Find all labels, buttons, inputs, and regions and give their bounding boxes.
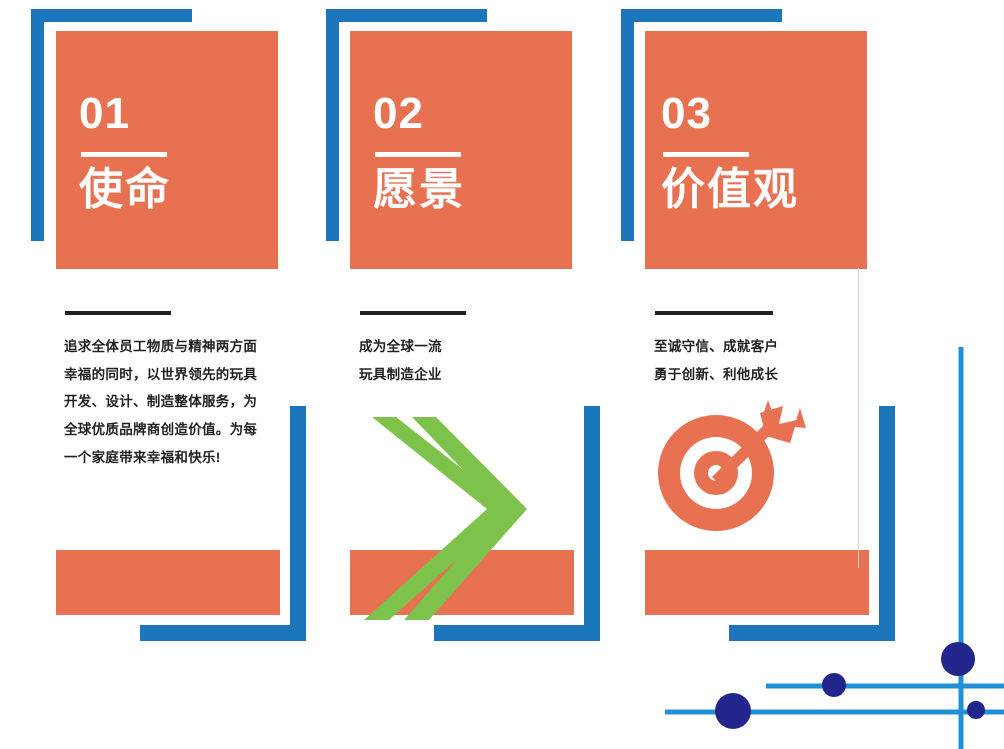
slide-edge-hairline xyxy=(858,268,859,568)
column-3-body-rule xyxy=(655,311,773,315)
target-arrow-icon xyxy=(658,400,806,531)
column-2-top-bracket-horizontal xyxy=(326,9,487,22)
decoration-circle-small-right xyxy=(967,701,985,719)
column-2-bottom-bracket-vertical xyxy=(584,406,600,625)
column-3-number: 03 xyxy=(661,92,799,136)
column-2-bottom-bracket-horizontal xyxy=(434,625,600,641)
column-3-top-bracket-horizontal xyxy=(621,9,782,22)
column-1-bottom-bracket-vertical xyxy=(290,406,306,625)
column-1-bottom-bracket-horizontal xyxy=(140,625,306,641)
decoration-circles xyxy=(715,642,985,729)
column-3-bottom-bracket-vertical xyxy=(879,406,895,625)
decoration-circle-medium-middle xyxy=(822,673,846,697)
decoration-line-horizontal-upper xyxy=(766,684,1004,689)
decoration-line-vertical xyxy=(959,347,964,749)
column-3-body-text: 至诚守信、成就客户 勇于创新、利他成长 xyxy=(654,333,884,388)
column-2-title-block: 02 愿景 xyxy=(373,92,465,213)
decoration-lines xyxy=(665,347,1004,749)
column-1-body-rule xyxy=(65,311,171,315)
column-1-top-bracket-vertical xyxy=(31,9,44,241)
column-3-bottom-bar xyxy=(645,550,869,615)
column-3-top-bracket-vertical xyxy=(621,9,634,241)
decoration-line-horizontal-lower xyxy=(665,710,1004,715)
column-2-number: 02 xyxy=(373,92,465,136)
column-1-number: 01 xyxy=(79,92,171,136)
column-3-title-block: 03 价值观 xyxy=(661,92,799,213)
slide-canvas: 01 使命 追求全体员工物质与精神两方面幸福的同时，以世界领先的玩具开发、设计、… xyxy=(0,0,1004,749)
column-1-body-text: 追求全体员工物质与精神两方面幸福的同时，以世界领先的玩具开发、设计、制造整体服务… xyxy=(64,333,261,471)
column-2-bottom-bar xyxy=(350,550,574,615)
decoration-circle-large-left xyxy=(715,693,751,729)
column-1-bottom-bar xyxy=(56,550,280,615)
column-2-top-bracket-vertical xyxy=(326,9,339,241)
column-2-rule xyxy=(375,152,461,157)
column-3-rule xyxy=(663,152,749,157)
column-1-rule xyxy=(81,152,167,157)
column-1-title-block: 01 使命 xyxy=(79,92,171,213)
column-1-top-bracket-horizontal xyxy=(31,9,192,22)
column-2-body-rule xyxy=(360,311,466,315)
column-3-name: 价值观 xyxy=(661,167,799,213)
column-2-name: 愿景 xyxy=(373,167,465,213)
column-2-body-text: 成为全球一流 玩具制造企业 xyxy=(359,333,569,388)
column-3-bottom-bracket-horizontal xyxy=(729,625,895,641)
decoration-circle-large-right xyxy=(941,642,975,676)
column-1-name: 使命 xyxy=(79,167,171,213)
